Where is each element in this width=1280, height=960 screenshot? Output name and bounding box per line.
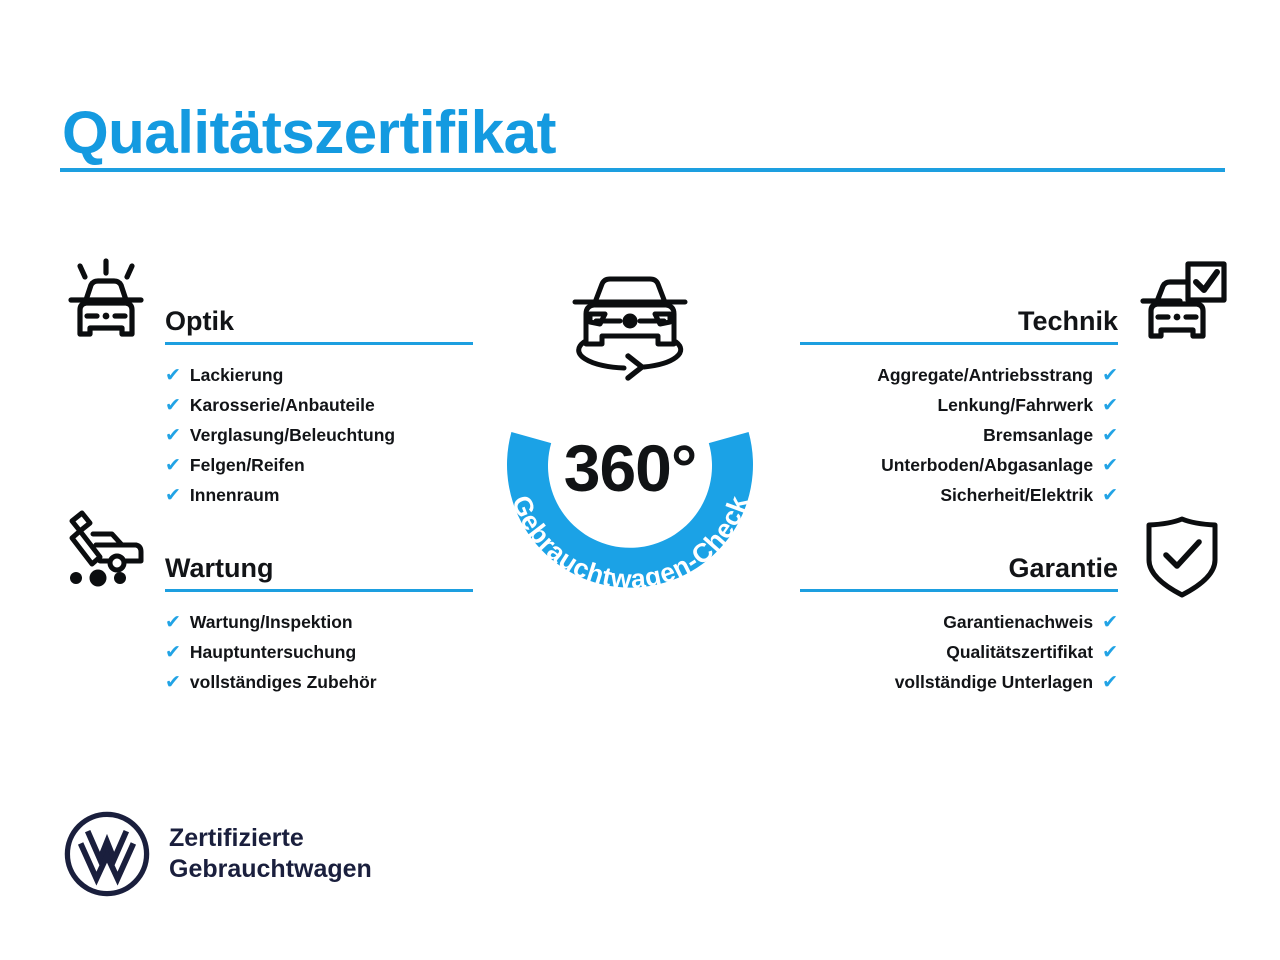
check-icon: ✔ bbox=[1102, 673, 1118, 692]
list-item-label: Karosserie/Anbauteile bbox=[190, 390, 375, 420]
vw-logo bbox=[63, 810, 151, 898]
check-icon: ✔ bbox=[1102, 366, 1118, 385]
check-icon: ✔ bbox=[165, 673, 181, 692]
check-icon: ✔ bbox=[165, 486, 181, 505]
car-checkbox-icon bbox=[1136, 258, 1228, 350]
list-item: Unterboden/Abgasanlage✔ bbox=[800, 450, 1118, 480]
shield-check-icon bbox=[1144, 514, 1220, 600]
checklist-wartung: ✔Wartung/Inspektion ✔Hauptuntersuchung ✔… bbox=[165, 607, 473, 697]
header-divider bbox=[60, 168, 1225, 172]
list-item-label: vollständiges Zubehör bbox=[190, 667, 377, 697]
car-shine-icon bbox=[60, 256, 152, 348]
checklist-garantie: Garantienachweis✔ Qualitätszertifikat✔ v… bbox=[800, 607, 1118, 697]
list-item: ✔Innenraum bbox=[165, 480, 473, 510]
list-item: Aggregate/Antriebsstrang✔ bbox=[800, 360, 1118, 390]
list-item: ✔Lackierung bbox=[165, 360, 473, 390]
check-icon: ✔ bbox=[165, 366, 181, 385]
section-title-wartung: Wartung bbox=[165, 553, 273, 584]
list-item-label: vollständige Unterlagen bbox=[895, 667, 1093, 697]
list-item: ✔Karosserie/Anbauteile bbox=[165, 390, 473, 420]
check-icon: ✔ bbox=[1102, 643, 1118, 662]
section-wartung: Wartung ✔Wartung/Inspektion ✔Hauptunters… bbox=[165, 540, 473, 697]
list-item-label: Aggregate/Antriebsstrang bbox=[877, 360, 1093, 390]
section-title-garantie: Garantie bbox=[1008, 553, 1118, 584]
list-item: ✔Verglasung/Beleuchtung bbox=[165, 420, 473, 450]
section-divider-garantie bbox=[800, 589, 1118, 592]
check-icon: ✔ bbox=[1102, 426, 1118, 445]
list-item: ✔vollständiges Zubehör bbox=[165, 667, 473, 697]
page-title: Qualitätszertifikat bbox=[62, 98, 556, 168]
list-item-label: Garantienachweis bbox=[943, 607, 1093, 637]
check-icon: ✔ bbox=[165, 643, 181, 662]
section-divider-optik bbox=[165, 342, 473, 345]
section-header-garantie: Garantie bbox=[800, 540, 1118, 592]
check-icon: ✔ bbox=[165, 613, 181, 632]
list-item-label: Wartung/Inspektion bbox=[190, 607, 353, 637]
badge-center-value: 360° bbox=[455, 435, 805, 501]
vw-certified-lockup: ZertifizierteGebrauchtwagen bbox=[63, 810, 372, 898]
list-item-label: Sicherheit/Elektrik bbox=[940, 480, 1093, 510]
list-item: Bremsanlage✔ bbox=[800, 420, 1118, 450]
list-item-label: Lackierung bbox=[190, 360, 283, 390]
section-garantie: Garantie Garantienachweis✔ Qualitätszert… bbox=[800, 540, 1118, 697]
check-icon: ✔ bbox=[165, 426, 181, 445]
section-title-technik: Technik bbox=[1018, 306, 1118, 337]
list-item-label: Verglasung/Beleuchtung bbox=[190, 420, 395, 450]
list-item: vollständige Unterlagen✔ bbox=[800, 667, 1118, 697]
check-icon: ✔ bbox=[165, 396, 181, 415]
check-icon: ✔ bbox=[165, 456, 181, 475]
list-item-label: Unterboden/Abgasanlage bbox=[881, 450, 1093, 480]
section-header-wartung: Wartung bbox=[165, 540, 473, 592]
check-icon: ✔ bbox=[1102, 613, 1118, 632]
section-technik: Technik Aggregate/Antriebsstrang✔ Lenkun… bbox=[800, 293, 1118, 510]
list-item: ✔Felgen/Reifen bbox=[165, 450, 473, 480]
footer-line-2: Gebrauchtwagen bbox=[169, 855, 372, 883]
check-icon: ✔ bbox=[1102, 456, 1118, 475]
car-service-icon bbox=[60, 505, 152, 597]
checklist-optik: ✔Lackierung ✔Karosserie/Anbauteile ✔Verg… bbox=[165, 360, 473, 510]
section-optik: Optik ✔Lackierung ✔Karosserie/Anbauteile… bbox=[165, 293, 473, 510]
list-item: Qualitätszertifikat✔ bbox=[800, 637, 1118, 667]
section-title-optik: Optik bbox=[165, 306, 234, 337]
checklist-technik: Aggregate/Antriebsstrang✔ Lenkung/Fahrwe… bbox=[800, 360, 1118, 510]
section-divider-wartung bbox=[165, 589, 473, 592]
list-item: Lenkung/Fahrwerk✔ bbox=[800, 390, 1118, 420]
list-item-label: Bremsanlage bbox=[983, 420, 1093, 450]
list-item-label: Qualitätszertifikat bbox=[946, 637, 1093, 667]
footer-text: ZertifizierteGebrauchtwagen bbox=[169, 823, 372, 885]
list-item: ✔Hauptuntersuchung bbox=[165, 637, 473, 667]
section-header-technik: Technik bbox=[800, 293, 1118, 345]
car-rotate-icon bbox=[575, 279, 685, 378]
footer-line-1: Zertifizierte bbox=[169, 824, 304, 852]
badge-360-gebrauchtwagen-check: Gebrauchtwagen-Check 360° bbox=[455, 250, 805, 610]
section-header-optik: Optik bbox=[165, 293, 473, 345]
list-item: Garantienachweis✔ bbox=[800, 607, 1118, 637]
check-icon: ✔ bbox=[1102, 486, 1118, 505]
check-icon: ✔ bbox=[1102, 396, 1118, 415]
section-divider-technik bbox=[800, 342, 1118, 345]
list-item: ✔Wartung/Inspektion bbox=[165, 607, 473, 637]
list-item-label: Lenkung/Fahrwerk bbox=[937, 390, 1093, 420]
list-item: Sicherheit/Elektrik✔ bbox=[800, 480, 1118, 510]
list-item-label: Felgen/Reifen bbox=[190, 450, 305, 480]
list-item-label: Innenraum bbox=[190, 480, 279, 510]
list-item-label: Hauptuntersuchung bbox=[190, 637, 356, 667]
